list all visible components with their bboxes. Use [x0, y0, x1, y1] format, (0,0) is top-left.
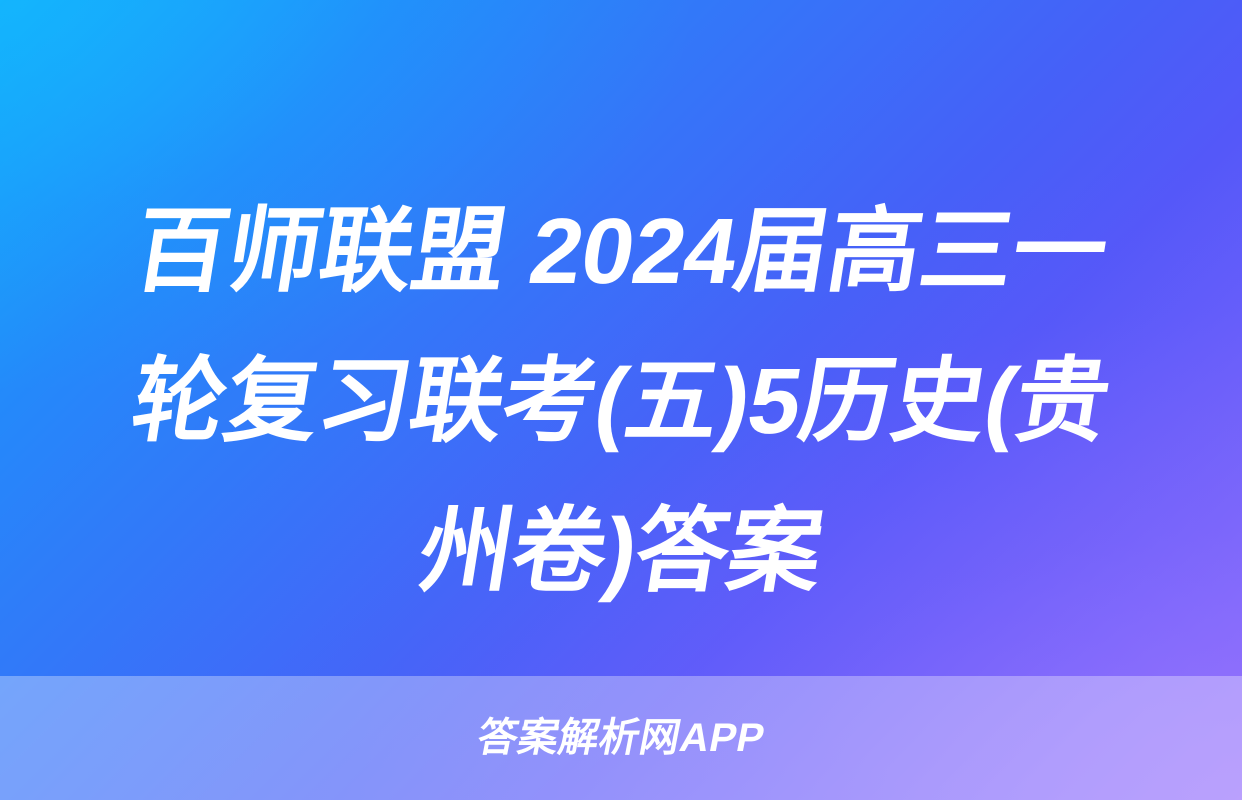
- poster-canvas: 百师联盟 2024届高三一 轮复习联考(五)5历史(贵 州卷)答案 答案解析网A…: [0, 0, 1242, 800]
- watermark-band: 答案解析网APP: [0, 676, 1242, 800]
- watermark-brand-label: 答案解析网APP: [473, 715, 768, 761]
- title-line-1: 百师联盟 2024届高三一: [44, 176, 1198, 326]
- title-line-2: 轮复习联考(五)5历史(贵: [44, 326, 1198, 476]
- page-title: 百师联盟 2024届高三一 轮复习联考(五)5历史(贵 州卷)答案: [0, 176, 1242, 626]
- title-line-3: 州卷)答案: [44, 476, 1198, 626]
